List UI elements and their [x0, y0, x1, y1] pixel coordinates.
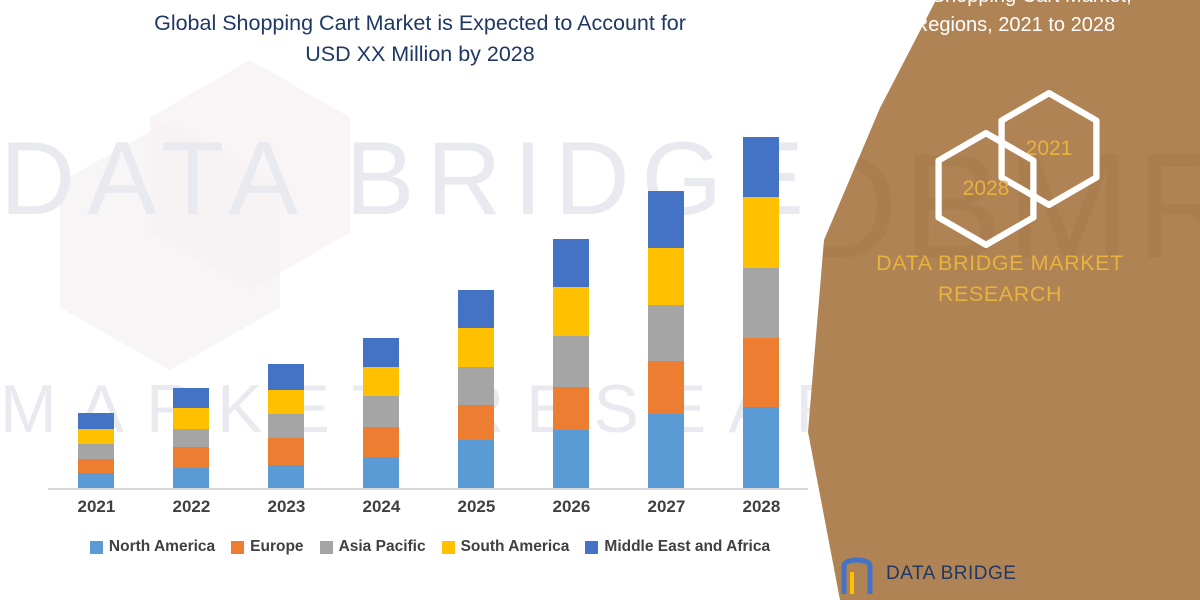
x-axis-tick-label: 2021 [78, 497, 114, 517]
footer-logo-text: DATA BRIDGE [886, 563, 1016, 585]
panel-title: Global Shopping Cart Market, By Regions,… [800, 0, 1200, 40]
chart-title-line-2: USD XX Million by 2028 [40, 39, 800, 70]
legend-swatch-icon [442, 541, 455, 554]
chart-title-line-1: Global Shopping Cart Market is Expected … [40, 8, 800, 39]
legend-item[interactable]: North America [90, 538, 215, 556]
bar-segment [648, 248, 684, 305]
hexagon-badges: 2021 2028 [800, 90, 1200, 250]
bar-segment [648, 191, 684, 249]
x-axis-line [48, 488, 808, 490]
bar-segment [743, 407, 779, 488]
legend-swatch-icon [320, 541, 333, 554]
x-axis-tick-label: 2022 [173, 497, 209, 517]
x-axis-tick-label: 2024 [363, 497, 399, 517]
legend-swatch-icon [90, 541, 103, 554]
footer-logo: DATA BRIDGE [840, 552, 1016, 596]
chart-title: Global Shopping Cart Market is Expected … [40, 8, 800, 70]
x-axis-tick-label: 2023 [268, 497, 304, 517]
bridge-logo-icon [840, 552, 876, 596]
hexagon-badge-2028-label: 2028 [933, 130, 1039, 248]
panel-title-line-2: By Regions, 2021 to 2028 [800, 11, 1200, 40]
bar-segment [268, 438, 304, 465]
legend-swatch-icon [585, 541, 598, 554]
stacked-bar [553, 239, 589, 488]
legend-item[interactable]: Asia Pacific [320, 538, 426, 556]
bar-segment [173, 388, 209, 409]
legend-item[interactable]: Middle East and Africa [585, 538, 770, 556]
bar-segment [458, 367, 494, 406]
stacked-bar [78, 413, 114, 488]
panel-title-line-1: Global Shopping Cart Market, [800, 0, 1200, 11]
bar-segment [173, 408, 209, 429]
legend-label: Asia Pacific [339, 538, 426, 556]
bar-segment [458, 328, 494, 367]
legend-label: Middle East and Africa [604, 538, 770, 556]
chart-plot-area [48, 90, 808, 490]
stacked-bar-group [48, 90, 808, 488]
bar-segment [553, 336, 589, 387]
bar-segment [648, 305, 684, 361]
bar-segment [78, 444, 114, 459]
brand-name-line-1: DATA BRIDGE MARKET [800, 248, 1200, 279]
bar-segment [743, 137, 779, 197]
bar-segment [458, 290, 494, 328]
bar-segment [363, 457, 399, 488]
bar-segment [78, 413, 114, 429]
bar-segment [268, 364, 304, 390]
bar-segment [743, 268, 779, 338]
bar-segment [553, 239, 589, 287]
chart-legend: North AmericaEuropeAsia PacificSouth Ame… [40, 538, 820, 556]
bar-segment [173, 447, 209, 468]
brand-name: DATA BRIDGE MARKET RESEARCH [800, 248, 1200, 310]
bar-segment [78, 473, 114, 488]
bar-segment [363, 338, 399, 367]
legend-label: Europe [250, 538, 303, 556]
legend-label: North America [109, 538, 215, 556]
bar-segment [553, 430, 589, 488]
bar-segment [78, 429, 114, 444]
bar-segment [363, 367, 399, 397]
bar-segment [553, 287, 589, 336]
bar-segment [173, 429, 209, 447]
bar-segment [268, 414, 304, 438]
bar-segment [458, 405, 494, 440]
brand-name-line-2: RESEARCH [800, 279, 1200, 310]
bar-segment [553, 387, 589, 431]
x-axis-tick-label: 2027 [648, 497, 684, 517]
legend-label: South America [461, 538, 570, 556]
legend-swatch-icon [231, 541, 244, 554]
stacked-bar [648, 191, 684, 488]
stacked-bar [173, 388, 209, 488]
bar-segment [268, 465, 304, 488]
bar-segment [173, 468, 209, 488]
x-axis-tick-labels: 20212022202320242025202620272028 [48, 494, 808, 520]
legend-item[interactable]: South America [442, 538, 570, 556]
x-axis-tick-label: 2026 [553, 497, 589, 517]
bar-segment [363, 396, 399, 427]
bar-segment [743, 197, 779, 269]
hexagon-badge-2028: 2028 [933, 130, 1039, 248]
stacked-bar [743, 137, 779, 488]
bar-segment [743, 338, 779, 408]
stacked-bar [268, 364, 304, 488]
x-axis-tick-label: 2025 [458, 497, 494, 517]
right-brand-panel: DBMR Global Shopping Cart Market, By Reg… [800, 0, 1200, 600]
stacked-bar [458, 290, 494, 488]
stacked-bar [363, 338, 399, 488]
bar-segment [648, 414, 684, 488]
bar-segment [363, 427, 399, 457]
bar-segment [78, 459, 114, 473]
legend-item[interactable]: Europe [231, 538, 303, 556]
bar-segment [458, 440, 494, 488]
x-axis-tick-label: 2028 [743, 497, 779, 517]
bar-segment [648, 361, 684, 415]
infographic-canvas: DATA BRIDGE MARKET RESEARCH Global Shopp… [0, 0, 1200, 600]
bar-segment [268, 390, 304, 415]
